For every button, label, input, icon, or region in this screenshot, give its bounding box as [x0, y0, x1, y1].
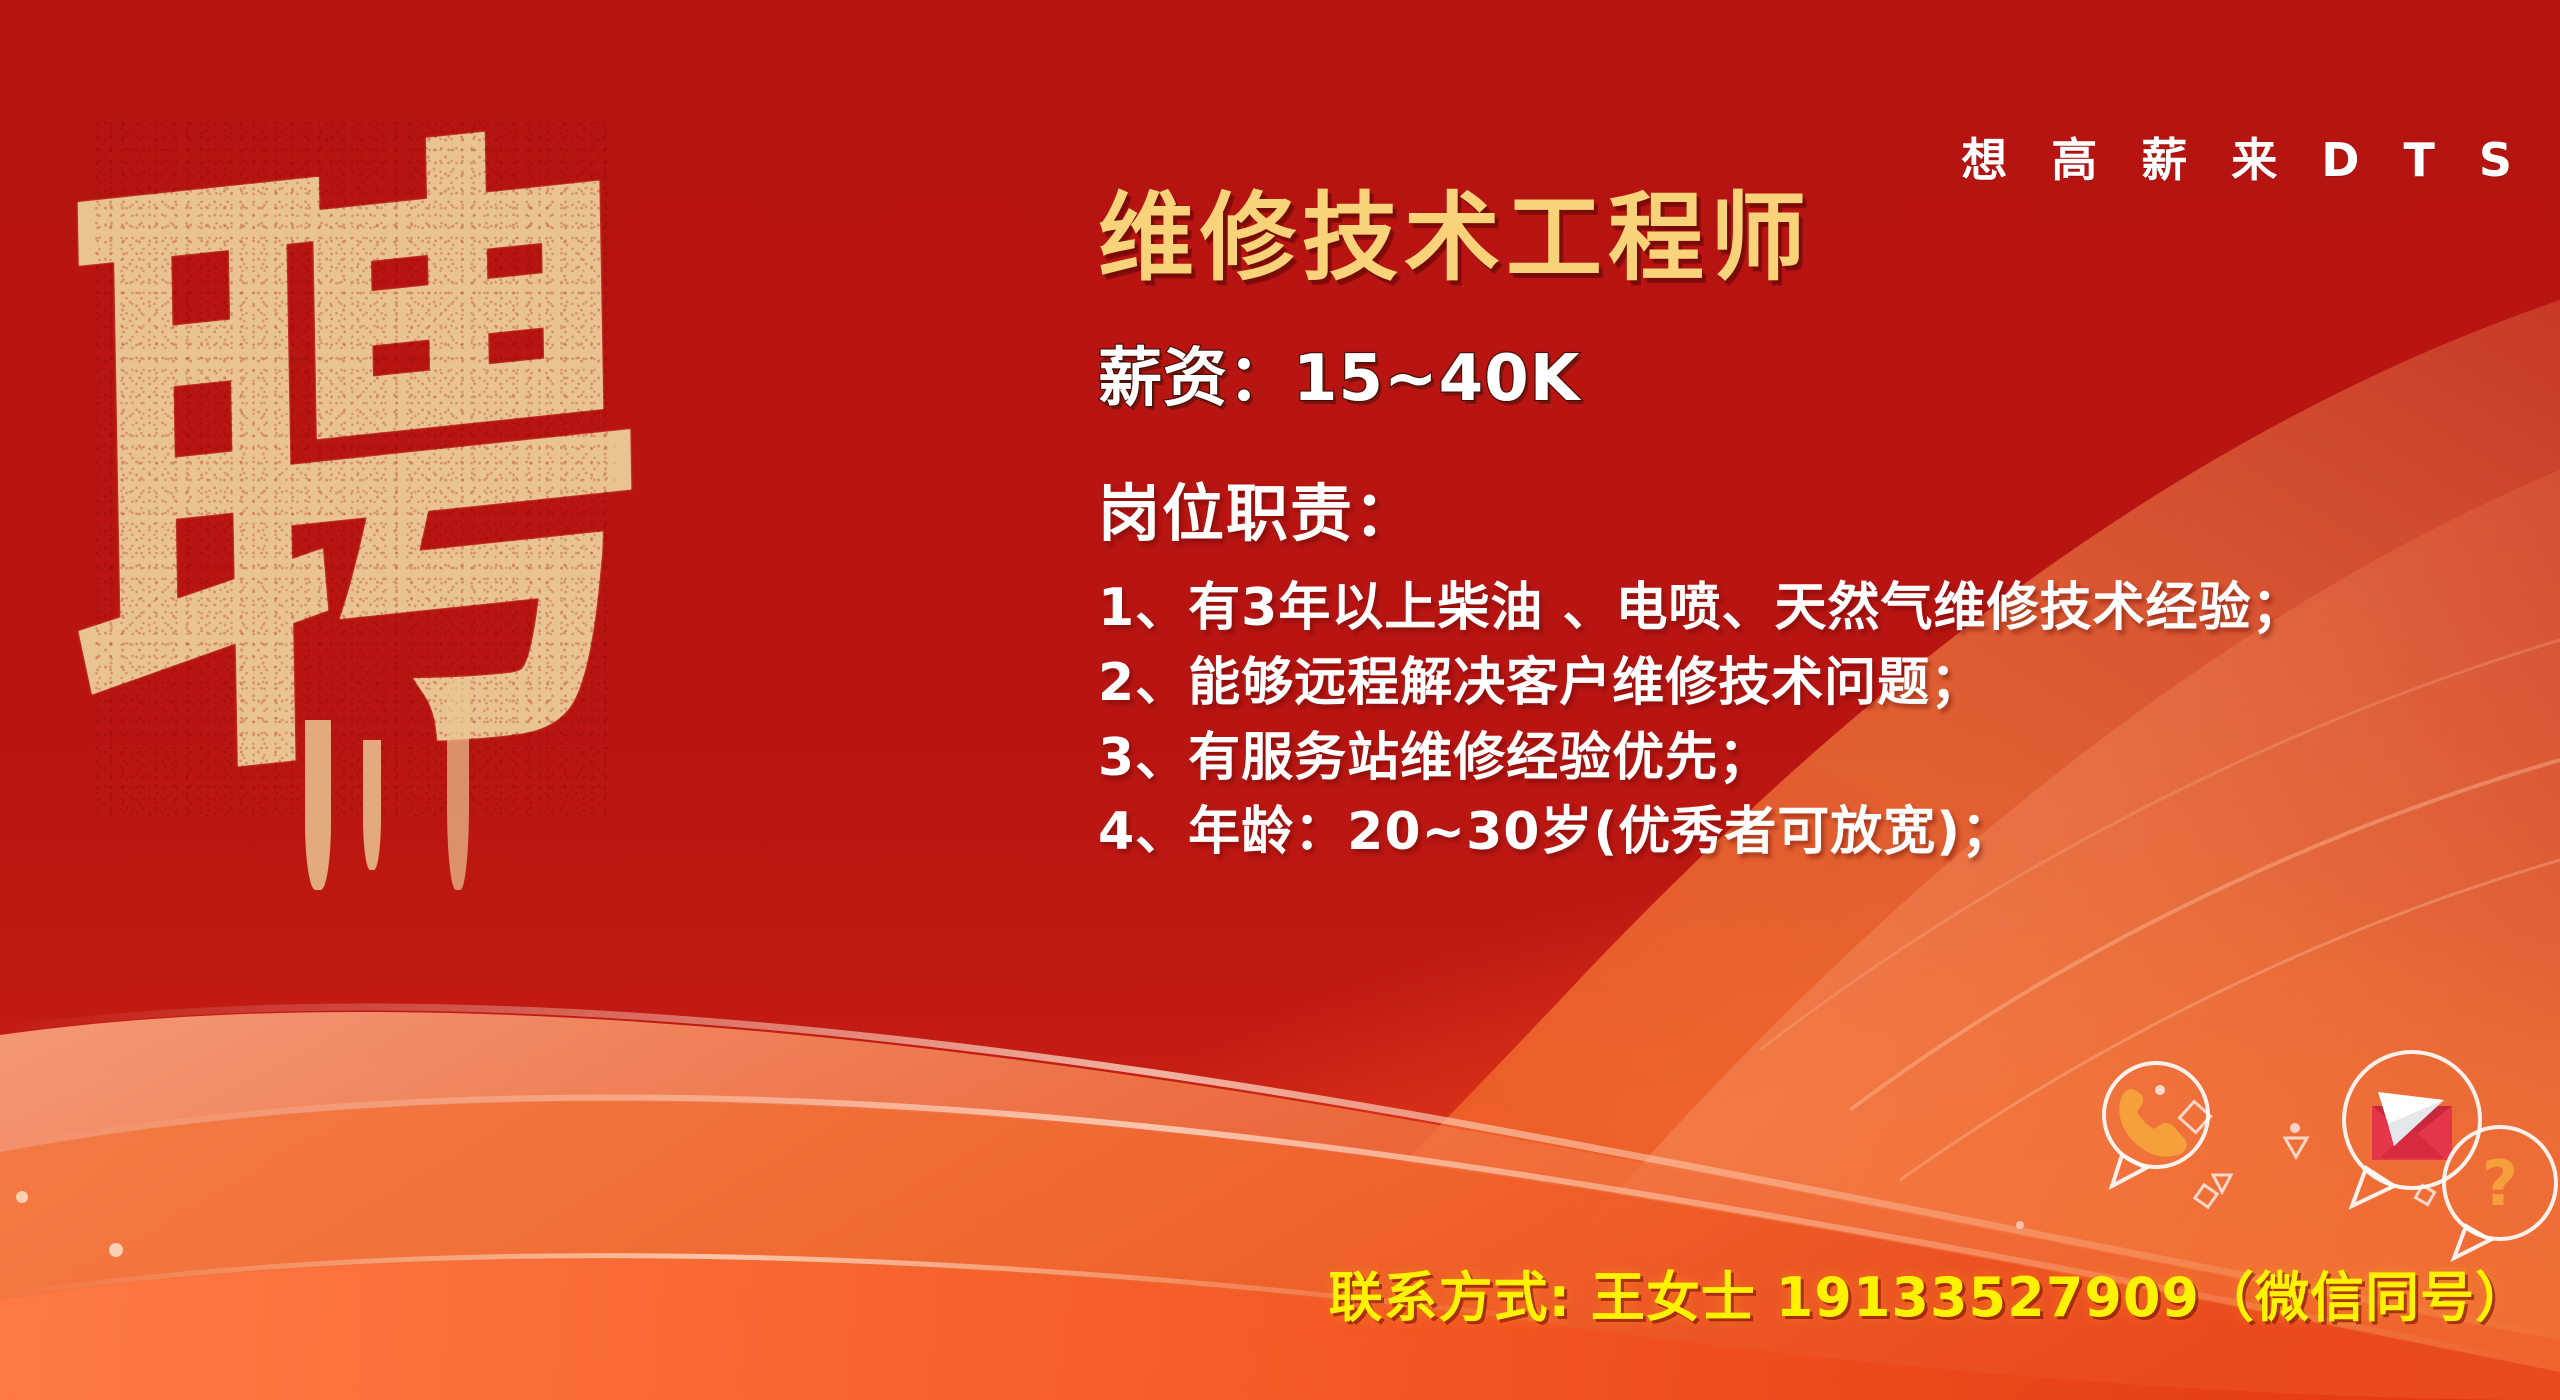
salary-label: 薪资：15~40K: [1098, 327, 2518, 419]
duty-item: 2、能够远程解决客户维修技术问题；: [1098, 646, 2518, 721]
duties-list: 1、有3年以上柴油 、电喷、天然气维修技术经验； 2、能够远程解决客户维修技术问…: [1098, 571, 2518, 871]
duty-item: 4、年龄：20~30岁(优秀者可放宽)；: [1098, 795, 2518, 870]
recruitment-poster: 聘 想 高 薪 来 D T S 维修技术工程师 薪资：15~40K 岗位职责： …: [0, 0, 2560, 1400]
duties-heading: 岗位职责：: [1098, 463, 2518, 553]
job-title: 维修技术工程师: [1098, 188, 2518, 289]
tagline: 想 高 薪 来 D T S: [1961, 124, 2526, 190]
contact-info: 联系方式: 王女士 19133527909（微信同号）: [1329, 1253, 2531, 1332]
duty-item: 1、有3年以上柴油 、电喷、天然气维修技术经验；: [1098, 571, 2518, 646]
job-content: 维修技术工程师 薪资：15~40K 岗位职责： 1、有3年以上柴油 、电喷、天然…: [1098, 188, 2518, 870]
duty-item: 3、有服务站维修经验优先；: [1098, 721, 2518, 796]
